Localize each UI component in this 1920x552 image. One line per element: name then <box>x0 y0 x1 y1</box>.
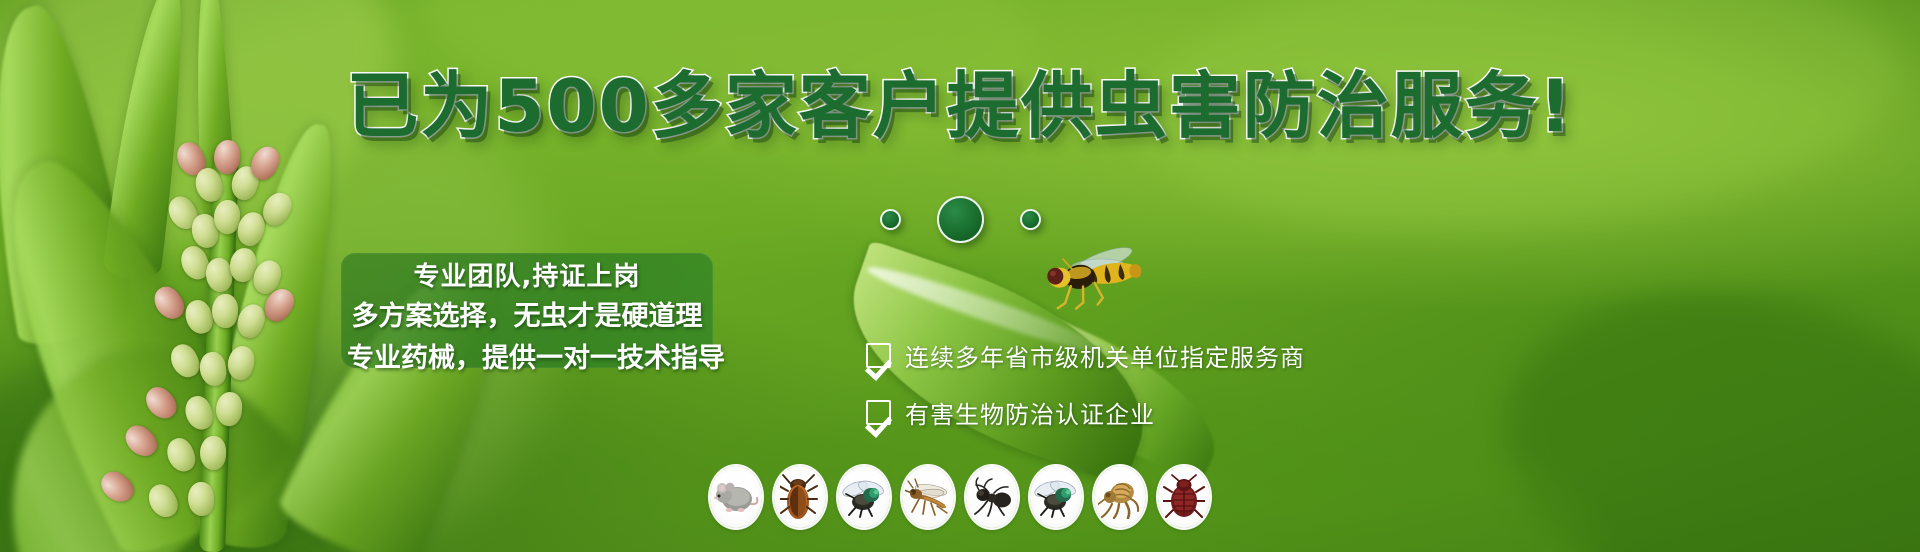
decor-dot-small-right <box>1020 209 1041 230</box>
decor-dot-large-center <box>937 196 984 243</box>
credentials-checklist: 连续多年省市级机关单位指定服务商 有害生物防治认证企业 <box>866 338 1426 430</box>
page-title: 已为500多家客户提供虫害防治服务! <box>0 70 1920 142</box>
list-item: 有害生物防治认证企业 <box>866 395 1426 430</box>
bedbug-icon <box>1163 474 1205 520</box>
pest-icon-badge[interactable] <box>1158 466 1210 528</box>
checkbox-checked-icon <box>866 343 891 368</box>
pest-icon-badge[interactable] <box>1030 466 1082 528</box>
pest-icon-badge[interactable] <box>966 466 1018 528</box>
blowfly-icon <box>1033 476 1079 518</box>
ant-icon <box>970 476 1014 518</box>
pest-icon-badge[interactable] <box>1094 466 1146 528</box>
selling-point-line-3: 专业药械，提供一对一技术指导 <box>347 338 707 380</box>
pest-control-hero-banner: 已为500多家客户提供虫害防治服务! 专业团队,持证上岗 多方案选择，无虫才是硬… <box>0 0 1920 552</box>
decor-dot-small-left <box>880 209 901 230</box>
pest-icon-badge[interactable] <box>838 466 890 528</box>
checkbox-checked-icon <box>866 400 891 425</box>
flea-icon <box>1098 475 1142 519</box>
cockroach-icon <box>780 473 820 521</box>
mosquito-icon <box>905 476 951 518</box>
pest-icon-badge[interactable] <box>774 466 826 528</box>
pest-icon-strip <box>0 466 1920 528</box>
selling-point-line-2: 多方案选择，无虫才是硬道理 <box>347 296 707 338</box>
selling-points-text: 专业团队,持证上岗 多方案选择，无虫才是硬道理 专业药械，提供一对一技术指导 <box>341 258 713 380</box>
mouse-icon <box>713 477 759 517</box>
credential-label: 连续多年省市级机关单位指定服务商 <box>905 338 1305 373</box>
decorative-dot-row <box>0 196 1920 243</box>
fly-icon <box>841 476 887 518</box>
list-item: 连续多年省市级机关单位指定服务商 <box>866 338 1426 373</box>
pest-icon-badge[interactable] <box>710 466 762 528</box>
credential-label: 有害生物防治认证企业 <box>905 395 1155 430</box>
pest-icon-badge[interactable] <box>902 466 954 528</box>
selling-point-line-1: 专业团队,持证上岗 <box>347 258 707 296</box>
